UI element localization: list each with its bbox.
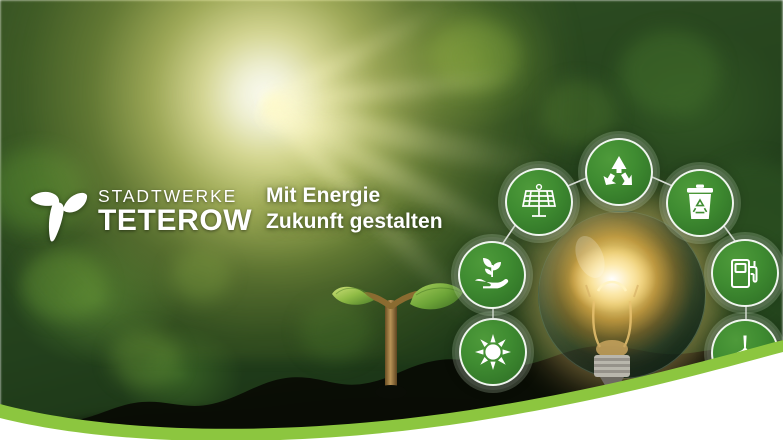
ev-charging-icon <box>725 253 765 293</box>
wind-turbine-icon <box>725 333 765 373</box>
seedling-sprout <box>330 262 470 400</box>
icon-waste-bin[interactable] <box>666 169 734 237</box>
icon-recycle[interactable] <box>585 138 653 206</box>
bokeh-disc <box>620 30 720 114</box>
brand-logo[interactable]: STADTWERKE TETEROW <box>28 178 228 246</box>
bokeh-disc <box>540 80 616 146</box>
icon-sun[interactable] <box>459 318 527 386</box>
icon-solar-panel[interactable] <box>505 168 573 236</box>
hand-plant-icon <box>471 255 513 295</box>
claim-line-1: Mit Energie <box>266 183 443 209</box>
icon-hand-plant[interactable] <box>458 241 526 309</box>
solar-panel-icon <box>519 182 559 222</box>
eco-icon-ring <box>455 140 783 402</box>
hero-banner: STADTWERKE TETEROW Mit Energie Zukunft g… <box>0 0 783 440</box>
stadtwerke-teterow-logo-mark <box>28 180 90 244</box>
claim-line-2: Zukunft gestalten <box>266 209 443 235</box>
waste-bin-icon <box>681 183 719 223</box>
brand-wordmark: STADTWERKE TETEROW <box>98 188 252 237</box>
claim-text: Mit Energie Zukunft gestalten <box>266 183 443 236</box>
brand-name-line2: TETEROW <box>98 206 252 236</box>
icon-wind-turbine[interactable] <box>711 319 779 387</box>
recycle-icon <box>599 152 639 192</box>
brand-name-line1: STADTWERKE <box>98 188 252 206</box>
icon-ev-charging[interactable] <box>711 239 779 307</box>
sun-icon <box>473 332 513 372</box>
